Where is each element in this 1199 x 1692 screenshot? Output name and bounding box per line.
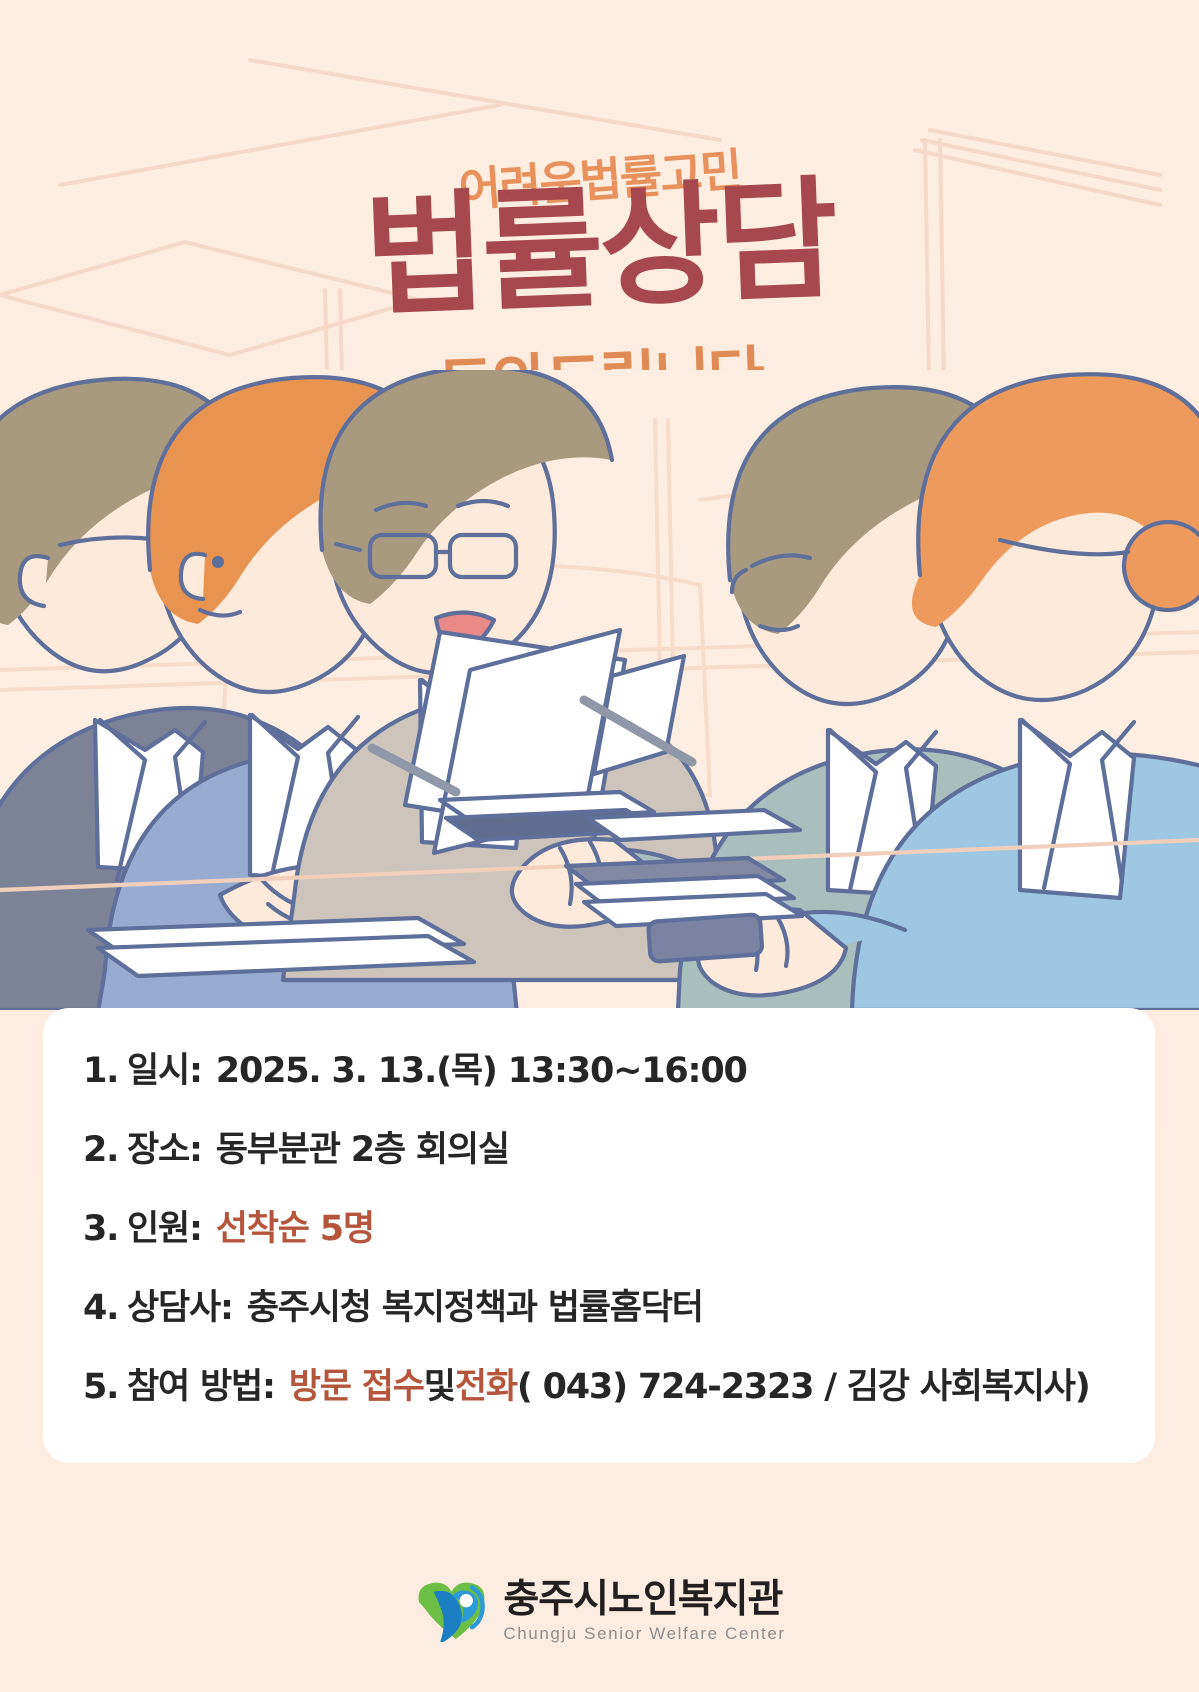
info-row-capacity: 3. 인원: 선착순 5명 [83, 1200, 1115, 1279]
info-row-howtojoin: 5. 참여 방법: 방문 접수 및 전화 ( 043) 724-2323 / 김… [83, 1358, 1115, 1437]
info-value-capacity: 선착순 5명 [216, 1200, 374, 1251]
info-value-phone-number: ( 043) 724-2323 / 김강 사회복지사) [517, 1358, 1090, 1409]
info-number-2: 2. [83, 1130, 127, 1170]
info-label-place: 장소: [127, 1121, 202, 1172]
info-value-visit: 방문 접수 [289, 1358, 424, 1409]
info-value-place: 동부분관 2층 회의실 [216, 1121, 509, 1172]
logo-text-block: 충주시노인복지관 Chungju Senior Welfare Center [503, 1580, 785, 1642]
consultation-illustration [0, 370, 1199, 1010]
info-value-phone-label: 전화 [455, 1358, 517, 1409]
info-label-date: 일시: [127, 1042, 202, 1093]
info-row-place: 2. 장소: 동부분관 2층 회의실 [83, 1121, 1115, 1200]
poster-root: 어려운법률고민 법률상담 도와드립니다 [0, 0, 1199, 1692]
info-value-counselor: 충주시청 복지정책과 법률홈닥터 [247, 1279, 703, 1330]
heart-hands-logo-icon [413, 1580, 487, 1642]
info-row-date: 1. 일시: 2025. 3. 13.(목) 13:30~16:00 [83, 1042, 1115, 1121]
info-number-5: 5. [83, 1367, 127, 1407]
info-label-howtojoin: 참여 방법: [127, 1358, 275, 1409]
logo-name-korean: 충주시노인복지관 [503, 1580, 785, 1619]
info-value-conjunction: 및 [424, 1358, 455, 1409]
info-label-counselor: 상담사: [127, 1279, 233, 1330]
info-value-date: 2025. 3. 13.(목) 13:30~16:00 [216, 1042, 747, 1093]
info-number-1: 1. [83, 1051, 127, 1091]
info-label-capacity: 인원: [127, 1200, 202, 1251]
info-card: 1. 일시: 2025. 3. 13.(목) 13:30~16:00 2. 장소… [43, 1008, 1155, 1463]
organization-logo: 충주시노인복지관 Chungju Senior Welfare Center [0, 1580, 1199, 1642]
info-number-3: 3. [83, 1209, 127, 1249]
logo-name-english: Chungju Senior Welfare Center [503, 1625, 785, 1642]
info-row-counselor: 4. 상담사: 충주시청 복지정책과 법률홈닥터 [83, 1279, 1115, 1358]
info-number-4: 4. [83, 1288, 127, 1328]
